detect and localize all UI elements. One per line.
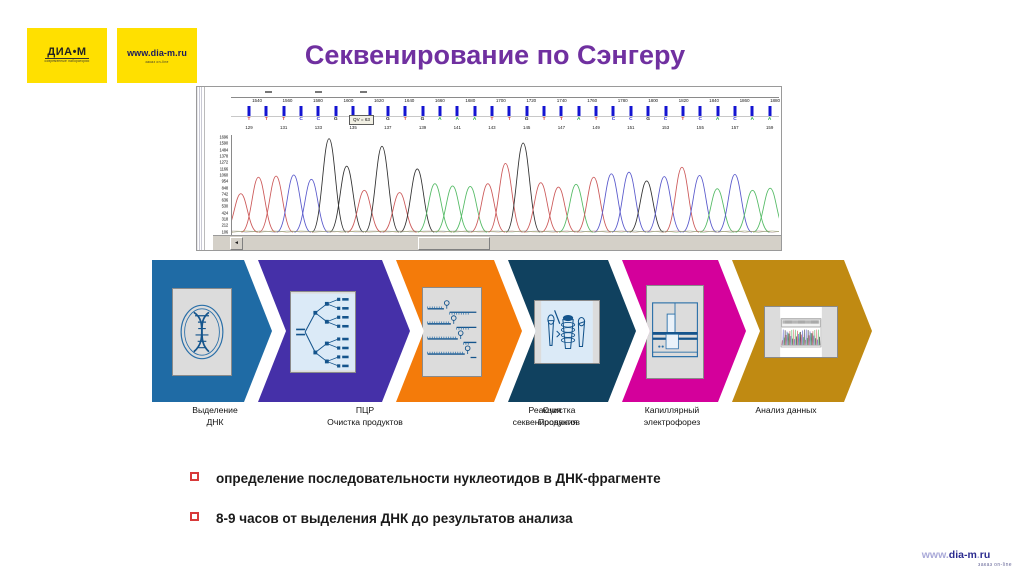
quality-bar: [525, 106, 528, 116]
bullet-text: 8-9 часов от выделения ДНК до результато…: [216, 511, 573, 526]
base-call: T: [265, 117, 268, 123]
base-position: 151: [627, 125, 634, 130]
y-axis-tick: 212: [222, 223, 228, 228]
base-call: T: [560, 117, 563, 123]
logo-website: www.dia-m.ru заказ on-line: [117, 28, 197, 83]
process-step-label-2: ПЦРОчистка продуктов: [290, 405, 440, 428]
watermark-main: dia-m: [949, 549, 977, 561]
base-call: C: [698, 117, 701, 123]
base-call: G: [334, 117, 338, 123]
logo-website-tagline: заказ on-line: [117, 60, 197, 64]
logo-diam: ДИА•М современные лаборатории: [27, 28, 107, 83]
watermark-prefix: www.: [922, 549, 949, 561]
ruler-scale-tick: 1820: [679, 98, 689, 103]
quality-bar: [699, 106, 702, 116]
ruler-scale-tick: 1540: [252, 98, 262, 103]
bullet-square-icon: [190, 472, 199, 481]
base-position: 157: [731, 125, 738, 130]
base-call: C: [317, 117, 320, 123]
ruler-scale-tick: 1720: [526, 98, 536, 103]
qv-tooltip: QV = 63: [349, 115, 374, 125]
base-call: C: [612, 117, 615, 123]
trace-peak: [277, 175, 311, 232]
watermark-suffix: ru: [980, 549, 991, 561]
quality-bar: [577, 106, 580, 116]
ruler-scale-tick: 1600: [343, 98, 353, 103]
quality-bar: [404, 106, 407, 116]
quality-bar: [629, 106, 632, 116]
quality-bar: [733, 106, 736, 116]
process-step-4[interactable]: [508, 260, 636, 402]
quality-bar: [438, 106, 441, 116]
ruler-scale-tick: 1640: [404, 98, 414, 103]
process-step-label-1: ВыделениеДНК: [160, 405, 270, 428]
process-step-label-6: Анализ данных: [726, 405, 846, 417]
base-position: 133: [315, 125, 322, 130]
quality-bar: [664, 106, 667, 116]
y-axis-labels: 1696159014841378127211661060954848742636…: [205, 135, 230, 236]
logo-website-text: www.dia-m.ru: [117, 48, 197, 58]
trace-peak: [330, 166, 364, 232]
trace-peak: [524, 183, 558, 232]
process-step-label-5: Капиллярныйэлектрофорез: [612, 405, 732, 428]
quality-bar: [421, 106, 424, 116]
quality-bar: [490, 106, 493, 116]
ruler-scale-tick: 1840: [709, 98, 719, 103]
base-position: 129: [245, 125, 252, 130]
ruler-scale-tick: 1560: [283, 98, 293, 103]
ruler-scale-tick: 1680: [465, 98, 475, 103]
quality-bar: [248, 106, 251, 116]
base-call: A: [456, 117, 459, 123]
quality-bar: [768, 106, 771, 116]
base-call: C: [664, 117, 667, 123]
base-call: G: [421, 117, 425, 123]
process-step-1[interactable]: [152, 260, 272, 402]
chromatogram-analysis-icon: [764, 306, 838, 358]
quality-bar: [751, 106, 754, 116]
ruler-scale-tick: 1760: [587, 98, 597, 103]
quality-bar: [508, 106, 511, 116]
trace-peak: [612, 172, 646, 232]
trace-peak: [630, 181, 664, 232]
process-step-6[interactable]: [732, 260, 872, 402]
y-axis-tick: 742: [222, 191, 228, 196]
quality-bar: [265, 106, 268, 116]
trace-peak: [594, 174, 628, 232]
scroll-left-button[interactable]: ◄: [230, 237, 243, 250]
ruler-scale-tick: 1660: [435, 98, 445, 103]
base-call: T: [404, 117, 407, 123]
chromatogram-analysis-icon: [765, 307, 837, 357]
ruler-scale-tick: 1700: [496, 98, 506, 103]
base-call: A: [716, 117, 719, 123]
process-step-5[interactable]: [622, 260, 746, 402]
base-call: A: [751, 117, 754, 123]
chromatogram-scrollbar[interactable]: ◄: [213, 235, 781, 250]
list-item: 8-9 часов от выделения ДНК до результато…: [190, 510, 890, 528]
quality-bar: [595, 106, 598, 116]
trace-plot: 1696159014841378127211661060954848742636…: [205, 135, 779, 236]
trace-peak: [347, 190, 381, 232]
trace-peak: [559, 184, 593, 232]
base-call: G: [525, 117, 529, 123]
y-axis-tick: 424: [222, 210, 228, 215]
footer-watermark: www.dia-m.ru заказ on-line: [896, 549, 1016, 568]
base-call: T: [595, 117, 598, 123]
quality-bar: [300, 106, 303, 116]
trace-peak: [541, 187, 575, 232]
base-call: T: [681, 117, 684, 123]
pcr-amplification-tree-icon: [291, 292, 355, 372]
y-axis-tick: 636: [222, 198, 228, 203]
dna-helix-icon: [173, 289, 231, 375]
base-position: 155: [697, 125, 704, 130]
pcr-amplification-tree-icon: [290, 291, 356, 373]
base-call: T: [508, 117, 511, 123]
logo-diam-tagline: современные лаборатории: [27, 59, 107, 63]
bullet-list: определение последовательности нуклеотид…: [190, 470, 890, 550]
base-call: A: [768, 117, 771, 123]
base-call: C: [629, 117, 632, 123]
trace-peak: [436, 186, 470, 232]
trace-peak: [241, 177, 275, 232]
process-step-3[interactable]: [396, 260, 522, 402]
quality-bar: [456, 106, 459, 116]
base-call: A: [577, 117, 580, 123]
base-position: 159: [766, 125, 773, 130]
scroll-thumb[interactable]: [418, 237, 490, 250]
quality-bar: [560, 106, 563, 116]
sequencer-instrument-icon: [646, 285, 704, 379]
base-call: C: [733, 117, 736, 123]
ruler-scale-tick: 1580: [313, 98, 323, 103]
quality-bar: [647, 106, 650, 116]
trace-curves: [232, 135, 779, 236]
trace-peak: [259, 176, 293, 232]
y-axis-tick: 1484: [219, 147, 228, 152]
trace-peak: [471, 184, 505, 232]
base-call: A: [473, 117, 476, 123]
chromatogram-top-ticks: [205, 87, 781, 97]
quality-bar: [334, 106, 337, 116]
trace-peak: [647, 177, 681, 233]
trace-peak: [312, 139, 346, 232]
slide-canvas: ДИА•М современные лаборатории www.dia-m.…: [0, 0, 1024, 576]
y-axis-tick: 1378: [219, 153, 228, 158]
trace-peak: [232, 194, 258, 232]
ruler-scale-tick: 1800: [648, 98, 658, 103]
list-item: определение последовательности нуклеотид…: [190, 470, 890, 488]
trace-peak: [453, 186, 487, 232]
y-axis-tick: 1696: [219, 135, 228, 140]
quality-bar: [386, 106, 389, 116]
quality-bar: [473, 106, 476, 116]
y-axis-tick: 530: [222, 204, 228, 209]
ruler-scale-tick: 1620: [374, 98, 384, 103]
base-call: G: [646, 117, 650, 123]
logo-diam-text: ДИА•М: [27, 46, 107, 58]
ruler-divider: [231, 116, 779, 117]
trace-peak: [365, 146, 399, 232]
base-position: 131: [280, 125, 287, 130]
trace-peak: [383, 193, 417, 233]
trace-peak: [294, 179, 328, 232]
quality-bar: [681, 106, 684, 116]
base-position: 141: [454, 125, 461, 130]
trace-peak: [753, 188, 779, 232]
labeled-terminator-strands-icon: [423, 288, 481, 376]
y-axis-tick: 1060: [219, 172, 228, 177]
ruler-scale-tick: 1860: [740, 98, 750, 103]
base-position: 153: [662, 125, 669, 130]
base-position: 137: [384, 125, 391, 130]
y-axis-tick: 848: [222, 185, 228, 190]
watermark-url: www.dia-m.ru: [896, 549, 1016, 561]
base-position: 149: [592, 125, 599, 130]
trace-peak: [665, 167, 699, 232]
quality-bar: [612, 106, 615, 116]
base-call: T: [248, 117, 251, 123]
watermark-tagline: заказ on-line: [896, 562, 1016, 568]
base-call: G: [386, 117, 390, 123]
base-call: C: [299, 117, 302, 123]
chromatogram-left-gutter: [197, 87, 205, 250]
process-flow: [152, 260, 872, 402]
base-call: T: [282, 117, 285, 123]
bullet-text: определение последовательности нуклеотид…: [216, 471, 661, 486]
ruler-scale-tick: 1880: [770, 98, 780, 103]
quality-bar: [282, 106, 285, 116]
base-position: 135: [349, 125, 356, 130]
process-step-2[interactable]: [258, 260, 410, 402]
base-position: 143: [488, 125, 495, 130]
dna-helix-icon: [172, 288, 232, 376]
base-position: 147: [558, 125, 565, 130]
pipette-tube-purification-icon: [535, 301, 599, 363]
chromatogram-window: 1540156015801600162016401660168017001720…: [196, 86, 782, 251]
base-call: T: [543, 117, 546, 123]
y-axis-tick: 1166: [220, 166, 228, 171]
trace-plot-area: [231, 135, 779, 236]
process-flow-labels: ВыделениеДНКПЦРОчистка продуктовРеакцияс…: [152, 405, 872, 445]
quality-bar: [543, 106, 546, 116]
ruler-scale-tick: 1740: [557, 98, 567, 103]
base-call: T: [490, 117, 493, 123]
quality-bar: [716, 106, 719, 116]
base-position: 145: [523, 125, 530, 130]
page-title: Секвенирование по Сэнгеру: [265, 40, 725, 71]
quality-bar: [317, 106, 320, 116]
sequencer-instrument-icon: [647, 286, 703, 378]
labeled-terminator-strands-icon: [422, 287, 482, 377]
y-axis-tick: 954: [222, 179, 228, 184]
process-step-label-4: ОчисткаПродуктов: [504, 405, 614, 428]
pipette-tube-purification-icon: [534, 300, 600, 364]
base-call: A: [438, 117, 441, 123]
trace-peak: [577, 177, 611, 232]
y-axis-tick: 1590: [219, 141, 228, 146]
ruler-scale-tick: 1780: [618, 98, 628, 103]
bullet-square-icon: [190, 512, 199, 521]
base-ruler: 1540156015801600162016401660168017001720…: [231, 97, 779, 137]
y-axis-tick: 318: [222, 217, 228, 222]
y-axis-tick: 106: [222, 229, 228, 234]
y-axis-tick: 1272: [219, 160, 228, 165]
base-position: 139: [419, 125, 426, 130]
